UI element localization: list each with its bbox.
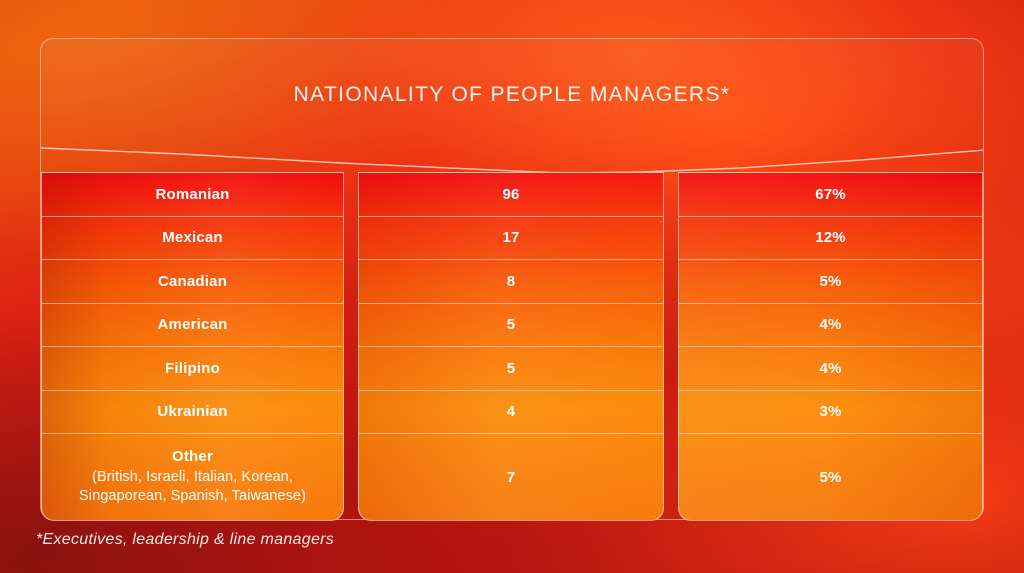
table-row: 4: [359, 391, 663, 435]
cell-nationality: Mexican: [162, 229, 223, 246]
column-nationality: Romanian Mexican Canadian American Filip…: [41, 172, 344, 521]
table-row: Canadian: [42, 260, 343, 304]
cell-percent: 4%: [819, 316, 841, 333]
cell-percent: 3%: [819, 403, 841, 420]
table-row: 12%: [679, 217, 982, 261]
column-percent: 67% 12% 5% 4% 4% 3% 5%: [678, 172, 983, 521]
table-row: 8: [359, 260, 663, 304]
table-row: 17: [359, 217, 663, 261]
table-row: 3%: [679, 391, 982, 435]
table-row: Filipino: [42, 347, 343, 391]
table-row: 5%: [679, 434, 982, 520]
cell-count: 7: [507, 469, 516, 486]
table-row: Ukrainian: [42, 391, 343, 435]
cell-count: 5: [507, 360, 516, 377]
cell-nationality: Canadian: [158, 273, 227, 290]
nationality-table: Romanian Mexican Canadian American Filip…: [41, 172, 983, 521]
cell-percent: 67%: [815, 186, 846, 203]
table-row: Other (British, Israeli, Italian, Korean…: [42, 434, 343, 520]
column-count: 96 17 8 5 5 4 7: [358, 172, 664, 521]
table-row: Mexican: [42, 217, 343, 261]
cell-nationality: Ukrainian: [157, 403, 227, 420]
cell-percent: 5%: [819, 273, 841, 290]
table-row: 5: [359, 304, 663, 348]
cell-count: 4: [507, 403, 516, 420]
cell-nationality-sub-line2: Singaporean, Spanish, Taiwanese): [79, 487, 306, 506]
table-row: 5: [359, 347, 663, 391]
cell-nationality: Other: [172, 448, 213, 465]
table-row: 96: [359, 173, 663, 217]
cell-count: 5: [507, 316, 516, 333]
table-row: Romanian: [42, 173, 343, 217]
page-title: NATIONALITY OF PEOPLE MANAGERS*: [41, 83, 983, 107]
cell-percent: 5%: [819, 469, 841, 486]
cell-nationality: American: [158, 316, 228, 333]
slide-canvas: NATIONALITY OF PEOPLE MANAGERS* Romanian…: [0, 0, 1024, 573]
cell-percent: 12%: [815, 229, 846, 246]
table-row: 7: [359, 434, 663, 520]
cell-nationality: Filipino: [165, 360, 220, 377]
cell-nationality: Romanian: [155, 186, 229, 203]
table-row: 4%: [679, 347, 982, 391]
cell-percent: 4%: [819, 360, 841, 377]
table-row: 5%: [679, 260, 982, 304]
cell-count: 96: [502, 186, 519, 203]
table-row: 67%: [679, 173, 982, 217]
table-row: American: [42, 304, 343, 348]
cell-count: 8: [507, 273, 516, 290]
cell-nationality-sub-line1: (British, Israeli, Italian, Korean,: [92, 468, 293, 487]
cell-count: 17: [502, 229, 519, 246]
table-row: 4%: [679, 304, 982, 348]
footnote: *Executives, leadership & line managers: [36, 531, 334, 549]
